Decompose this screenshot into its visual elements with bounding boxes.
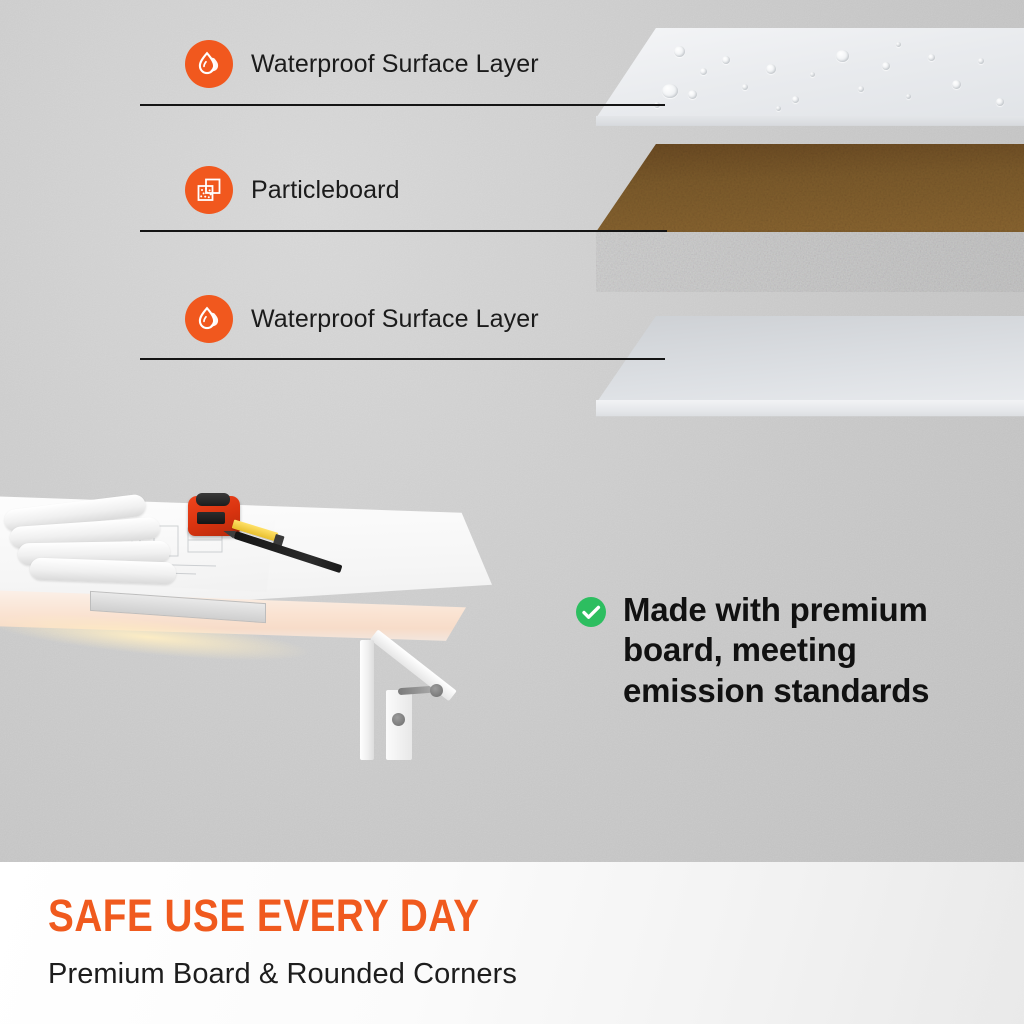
core-top-face [596,144,1024,232]
callout-particleboard: Particleboard [185,166,400,214]
bracket-wall-screw [392,713,405,726]
particleboard-icon [185,166,233,214]
bracket-pivot-screw [430,684,443,697]
core-front-grain [596,230,1024,292]
banner-subheadline: Premium Board & Rounded Corners [48,958,517,991]
layer-bottom-waterproof [596,316,1024,440]
core-front-face [596,230,1024,292]
leader-line [140,104,665,106]
callout-label: Particleboard [251,176,400,205]
leader-line [140,230,667,232]
benefit-statement: Made with premium board, meeting emissio… [575,590,1005,711]
infographic-stage: Waterproof Surface Layer [0,0,1024,1024]
blueprint-rolls [4,498,200,574]
water-droplet-icon [185,40,233,88]
core-top-grain [596,144,1024,232]
exploded-board-layers [596,28,1024,440]
tape-measure-window [197,512,225,524]
benefit-text: Made with premium board, meeting emissio… [623,590,1005,711]
callout-label: Waterproof Surface Layer [251,305,539,334]
callout-waterproof-bottom: Waterproof Surface Layer [185,295,539,343]
water-droplets-group [596,28,1024,124]
bottom-layer-edge [596,400,1024,422]
layer-top-waterproof [596,28,1024,146]
callout-label: Waterproof Surface Layer [251,50,539,79]
callout-waterproof-top: Waterproof Surface Layer [185,40,539,88]
banner-headline: SAFE USE EVERY DAY [48,890,480,942]
banner-texture [0,862,1024,1024]
top-layer-edge [596,116,1024,132]
bracket-vertical-arm [360,640,374,760]
tape-measure-cap [196,493,230,506]
check-circle-icon [575,596,607,628]
bottom-banner: SAFE USE EVERY DAY Premium Board & Round… [0,862,1024,1024]
leader-line [140,358,665,360]
layer-particleboard-core [596,144,1024,304]
water-droplet-icon [185,295,233,343]
